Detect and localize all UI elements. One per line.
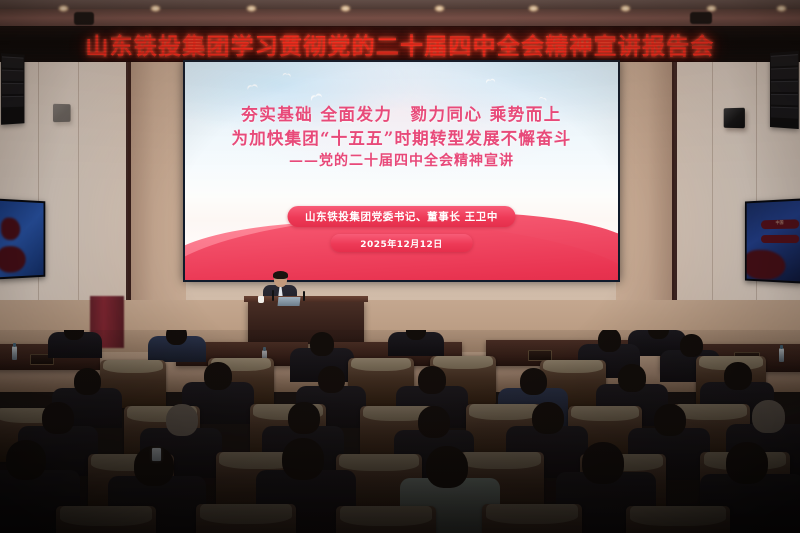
ceiling-downlight xyxy=(340,5,351,12)
monitor-label-pill: 中国 xyxy=(761,219,799,229)
led-banner: 山东铁投集团学习贯彻党的二十届四中全会精神宣讲报告会 xyxy=(0,26,800,62)
line-array-cell xyxy=(771,67,798,79)
attendee-head xyxy=(418,406,450,438)
line-array-cell xyxy=(771,94,798,105)
attendee-head xyxy=(520,368,547,395)
wall-speaker-icon xyxy=(724,108,745,129)
right-side-monitor: 中国 xyxy=(745,198,800,283)
projection-screen: 夯实基础 全面发力 勠力同心 乘势而上 为加快集团“十五五”时期转型发展不懈奋斗… xyxy=(185,62,618,280)
seat xyxy=(482,504,582,533)
ceiling-downlight xyxy=(246,5,257,12)
left-side-monitor xyxy=(0,199,45,280)
attendee-head xyxy=(318,366,345,393)
attendee-head xyxy=(288,402,320,434)
seat xyxy=(196,504,296,533)
line-array-cell xyxy=(2,56,24,68)
attendee-head xyxy=(618,364,646,392)
ceiling-strip xyxy=(0,0,800,9)
line-array-cell xyxy=(771,81,798,92)
audience-area xyxy=(0,330,800,533)
attendee-head xyxy=(74,368,101,395)
dove-icon xyxy=(282,73,291,80)
attendee-head xyxy=(6,440,46,480)
slide-date-pill: 2025年12月12日 xyxy=(330,234,473,252)
seat xyxy=(56,506,156,533)
ceiling-downlight xyxy=(620,5,631,12)
podium-microphone-icon xyxy=(272,290,274,301)
monitor-graphic-blob xyxy=(747,250,786,281)
ceiling-downlight xyxy=(776,5,787,12)
monitor-label-pill xyxy=(761,235,799,243)
right-pilaster xyxy=(616,30,674,330)
conference-hall-photo: 山东铁投集团学习贯彻党的二十届四中全会精神宣讲报告会 夯实基础 全面发力 勠力同… xyxy=(0,0,800,533)
attendee-head xyxy=(598,330,621,352)
ceiling-downlight xyxy=(706,5,717,12)
wall-seam xyxy=(78,60,79,330)
attendee-head xyxy=(166,404,198,436)
attendee-head xyxy=(204,362,232,390)
seat xyxy=(626,506,730,533)
wall-reveal xyxy=(672,30,677,330)
attendee-head xyxy=(654,404,686,436)
left-monitor-screen xyxy=(0,201,44,277)
wall-seam xyxy=(38,60,39,330)
podium-laptop-icon xyxy=(278,297,301,306)
ceiling-downlight xyxy=(150,5,161,12)
attendee-head xyxy=(166,330,187,345)
monitor-graphic-blob xyxy=(0,246,26,273)
attendee-head xyxy=(532,402,564,434)
line-array-cell xyxy=(2,96,24,108)
seat xyxy=(336,506,436,533)
line-array-cell xyxy=(771,107,798,119)
right-monitor-screen: 中国 xyxy=(747,201,800,282)
attendee-head xyxy=(310,332,334,356)
attendee-head xyxy=(282,438,324,480)
presenter-hair xyxy=(273,271,288,279)
attendee-head xyxy=(418,366,446,394)
attendee-head xyxy=(726,442,768,484)
wall-seam xyxy=(756,60,757,330)
attendee-head xyxy=(42,402,74,434)
attendee-head xyxy=(680,334,703,357)
led-banner-text: 山东铁投集团学习贯彻党的二十届四中全会精神宣讲报告会 xyxy=(0,26,800,62)
ceiling-projector-icon xyxy=(74,12,94,25)
podium-microphone-icon xyxy=(303,291,305,301)
slide-ribbon-graphic xyxy=(185,180,618,280)
attendee-head xyxy=(582,442,624,484)
slide-title-block: 夯实基础 全面发力 勠力同心 乘势而上 为加快集团“十五五”时期转型发展不懈奋斗… xyxy=(185,103,618,172)
slide-title-line-2: 为加快集团“十五五”时期转型发展不懈奋斗 xyxy=(185,127,618,150)
left-pilaster xyxy=(128,30,186,330)
line-array-speaker xyxy=(1,53,24,125)
line-array-cell xyxy=(2,70,24,82)
line-array-speaker xyxy=(770,51,799,129)
monitor-graphic-blob xyxy=(1,217,20,240)
wall-reveal xyxy=(126,30,131,330)
attendee-head xyxy=(724,362,752,390)
attendee-head xyxy=(426,446,468,488)
ceiling-downlight xyxy=(528,5,539,12)
right-monitor-label: 中国 xyxy=(761,219,799,226)
slide-speaker-pill: 山东铁投集团党委书记、董事长 王卫中 xyxy=(287,206,516,227)
line-array-cell xyxy=(771,54,798,67)
wall-seam xyxy=(712,60,713,330)
projection-screen-frame: 夯实基础 全面发力 勠力同心 乘势而上 为加快集团“十五五”时期转型发展不懈奋斗… xyxy=(183,60,620,282)
slide-subtitle-line: ——党的二十届四中全会精神宣讲 xyxy=(185,152,618,172)
line-array-cell xyxy=(2,83,24,94)
attendee-head xyxy=(752,400,785,433)
slide-title-line-1: 夯实基础 全面发力 勠力同心 乘势而上 xyxy=(185,103,618,126)
dove-icon xyxy=(486,78,496,86)
ceiling-projector-icon xyxy=(690,12,712,24)
ceiling-downlight xyxy=(58,5,69,12)
podium-cup-icon xyxy=(258,296,264,303)
attendee-phone-icon xyxy=(152,448,161,461)
ceiling-downlight xyxy=(434,5,445,12)
wall-speaker-icon xyxy=(53,104,71,122)
